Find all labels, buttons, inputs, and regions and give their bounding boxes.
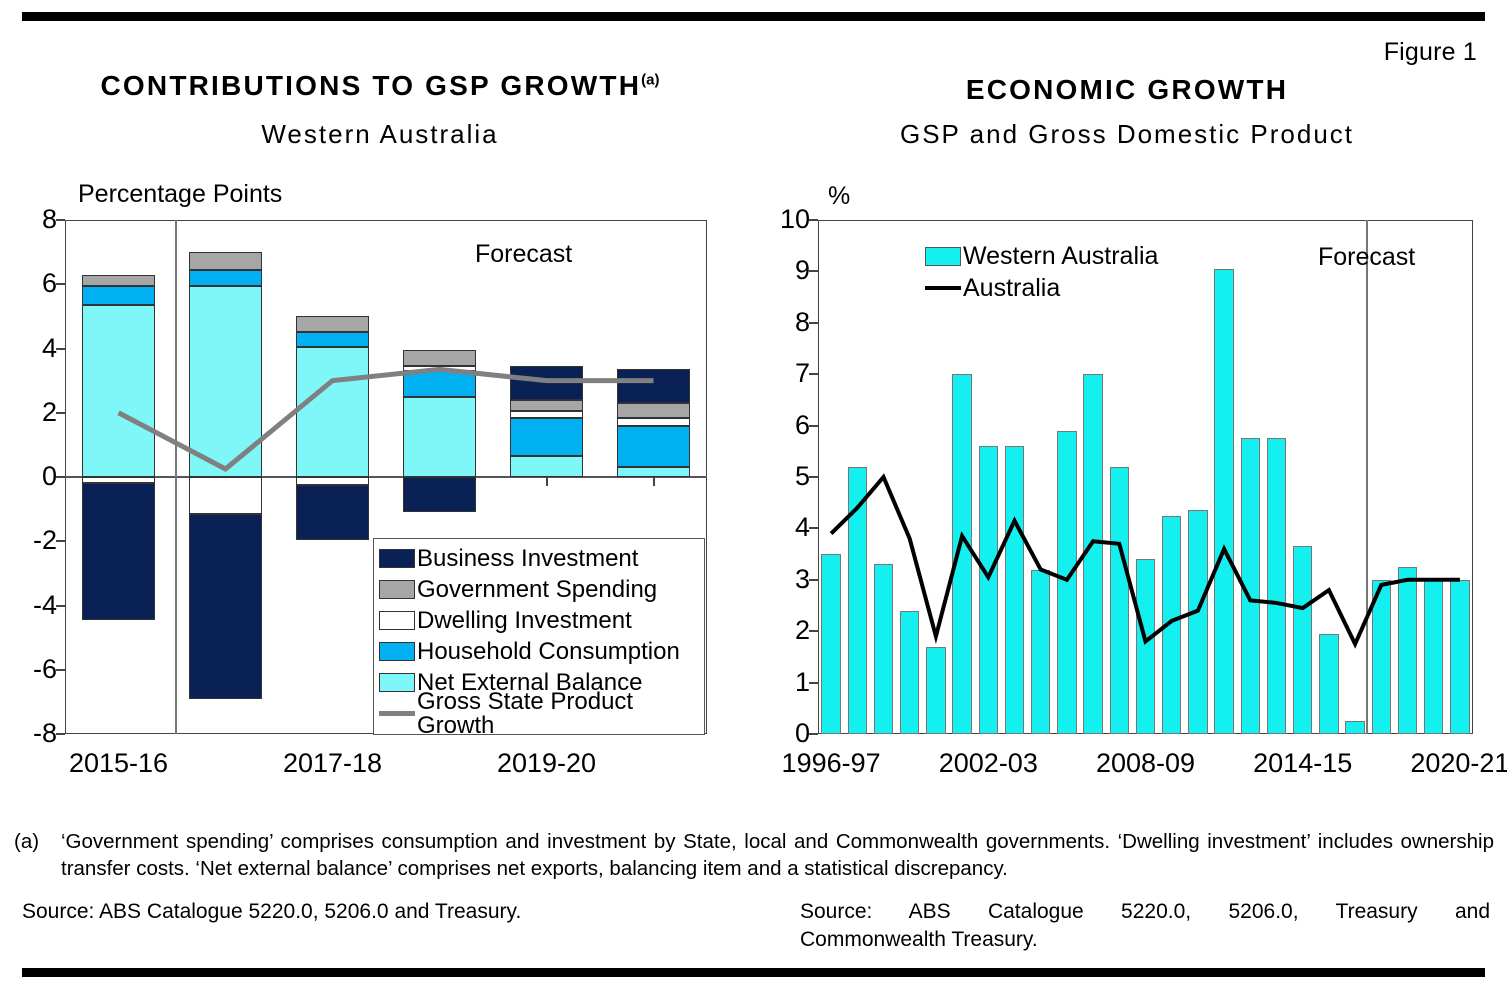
bar-segment-government-spending — [296, 316, 369, 332]
legend-item-label: Australia — [963, 276, 1060, 301]
legend-item-australia: Australia — [925, 272, 1158, 304]
bar-segment-business-investment — [403, 477, 476, 512]
right-y-tick-mark — [809, 270, 818, 272]
bar-segment-household-consumption — [189, 270, 262, 286]
bar-group-2017-18 — [296, 220, 369, 734]
bar-2004-05 — [1031, 570, 1050, 734]
legend-color-swatch — [925, 247, 961, 266]
right-y-tick-mark — [809, 322, 818, 324]
legend-line-swatch — [379, 711, 415, 716]
figure-label: Figure 1 — [1384, 38, 1477, 67]
legend-line-swatch — [925, 286, 961, 290]
legend-item-label: Western Australia — [963, 244, 1158, 269]
legend-color-swatch — [379, 549, 415, 568]
source-left: Source: ABS Catalogue 5220.0, 5206.0 and… — [22, 898, 752, 926]
right-y-tick-mark — [809, 476, 818, 478]
left-chart-title: CONTRIBUTIONS TO GSP GROWTH(a) — [0, 70, 760, 102]
right-y-tick-mark — [809, 579, 818, 581]
right-y-tick-mark — [809, 682, 818, 684]
bar-segment-net-external-balance — [189, 286, 262, 477]
bar-2017-18 — [1372, 580, 1391, 734]
right-y-tick-mark — [809, 373, 818, 375]
right-x-axis-label: 1996-97 — [741, 748, 921, 779]
bar-segment-household-consumption — [403, 371, 476, 397]
legend-item-label: Dwelling Investment — [417, 609, 632, 633]
left-y-tick-mark — [56, 283, 65, 285]
legend-item-government-spending: Government Spending — [379, 574, 699, 605]
right-y-tick-mark — [809, 425, 818, 427]
left-chart-title-text: CONTRIBUTIONS TO GSP GROWTH — [101, 70, 642, 101]
bar-2013-14 — [1267, 438, 1286, 734]
left-forecast-divider — [175, 220, 177, 734]
right-chart-subtitle: GSP and Gross Domestic Product — [747, 119, 1507, 150]
right-forecast-divider — [1366, 220, 1368, 734]
left-x-axis-label: 2019-20 — [457, 748, 637, 779]
left-y-tick-mark — [56, 733, 65, 735]
right-y-tick-label: 8 — [758, 309, 810, 336]
left-axis-unit-label: Percentage Points — [78, 180, 282, 209]
left-chart-title-superscript: (a) — [641, 72, 659, 89]
right-x-axis-label: 2020-21 — [1370, 748, 1507, 779]
left-y-tick-label: 6 — [5, 270, 57, 297]
footnote-text: ‘Government spending’ comprises consumpt… — [61, 828, 1494, 883]
legend-item-household-consumption: Household Consumption — [379, 636, 699, 667]
bar-segment-net-external-balance — [82, 305, 155, 477]
right-y-tick-label: 5 — [758, 463, 810, 490]
left-zero-line — [65, 476, 707, 478]
bar-segment-dwelling-investment — [296, 477, 369, 485]
right-y-tick-label: 0 — [758, 720, 810, 747]
bar-segment-government-spending — [82, 275, 155, 286]
bar-segment-business-investment — [82, 483, 155, 620]
bar-segment-dwelling-investment — [189, 477, 262, 514]
bar-2009-10 — [1162, 516, 1181, 734]
bar-segment-business-investment — [510, 366, 583, 400]
bar-segment-dwelling-investment — [510, 411, 583, 417]
bar-2015-16 — [1319, 634, 1338, 734]
legend-color-swatch — [379, 642, 415, 661]
right-forecast-label: Forecast — [1318, 243, 1415, 272]
bar-2002-03 — [979, 446, 998, 734]
bar-2005-06 — [1057, 431, 1076, 734]
bar-2016-17 — [1345, 721, 1364, 734]
right-x-axis-label: 2002-03 — [898, 748, 1078, 779]
right-y-tick-mark — [809, 527, 818, 529]
legend-color-swatch — [379, 611, 415, 630]
footnote-marker: (a) — [14, 828, 39, 855]
left-y-tick-label: 0 — [5, 463, 57, 490]
bottom-divider-rule — [22, 968, 1485, 977]
bar-segment-dwelling-investment — [617, 418, 690, 426]
legend-item-western-australia: Western Australia — [925, 240, 1158, 272]
legend-item-label: Gross State Product Growth — [417, 690, 699, 738]
right-y-tick-label: 1 — [758, 669, 810, 696]
legend-color-swatch — [379, 673, 415, 692]
left-y-tick-mark — [56, 348, 65, 350]
left-y-tick-mark — [56, 669, 65, 671]
bar-segment-business-investment — [296, 485, 369, 540]
bar-1999-00 — [900, 611, 919, 734]
right-y-tick-label: 7 — [758, 360, 810, 387]
bar-group-2016-17 — [189, 220, 262, 734]
right-x-axis-label: 2008-09 — [1056, 748, 1236, 779]
legend-item-label: Government Spending — [417, 578, 657, 602]
bar-2008-09 — [1136, 559, 1155, 734]
bar-1997-98 — [848, 467, 867, 734]
left-y-tick-label: -4 — [5, 592, 57, 619]
bar-segment-government-spending — [510, 400, 583, 411]
bar-2019-20 — [1424, 580, 1443, 734]
left-y-tick-mark — [56, 476, 65, 478]
right-y-tick-mark — [809, 630, 818, 632]
bar-2000-01 — [926, 647, 945, 734]
bar-segment-net-external-balance — [617, 467, 690, 477]
right-chart-title: ECONOMIC GROWTH — [747, 74, 1507, 106]
left-x-axis-label: 2015-16 — [29, 748, 209, 779]
bar-2001-02 — [952, 374, 971, 734]
bar-segment-business-investment — [189, 514, 262, 699]
legend-item-business-investment: Business Investment — [379, 543, 699, 574]
left-chart-subtitle: Western Australia — [0, 119, 760, 150]
left-y-tick-label: -6 — [5, 656, 57, 683]
right-x-axis-label: 2014-15 — [1213, 748, 1393, 779]
left-chart-legend: Business InvestmentGovernment SpendingDw… — [373, 538, 705, 735]
bar-2018-19 — [1398, 567, 1417, 734]
right-chart-legend: Western AustraliaAustralia — [925, 240, 1158, 304]
left-y-tick-label: 2 — [5, 399, 57, 426]
footnote: (a) ‘Government spending’ comprises cons… — [14, 828, 1494, 883]
bar-segment-household-consumption — [617, 426, 690, 468]
bar-segment-government-spending — [617, 403, 690, 417]
bar-segment-household-consumption — [510, 418, 583, 457]
right-y-tick-label: 2 — [758, 617, 810, 644]
right-y-tick-label: 3 — [758, 566, 810, 593]
right-y-tick-label: 9 — [758, 257, 810, 284]
bar-segment-net-external-balance — [403, 397, 476, 477]
top-divider-rule — [22, 12, 1485, 21]
bar-segment-government-spending — [403, 350, 476, 366]
left-y-tick-mark — [56, 219, 65, 221]
bar-2003-04 — [1005, 446, 1024, 734]
bar-2020-21 — [1450, 580, 1469, 734]
right-y-tick-label: 10 — [758, 206, 810, 233]
bar-segment-net-external-balance — [296, 347, 369, 477]
right-y-tick-mark — [809, 219, 818, 221]
bar-2007-08 — [1110, 467, 1129, 734]
bar-2012-13 — [1241, 438, 1260, 734]
bar-segment-household-consumption — [82, 286, 155, 305]
left-y-tick-label: 4 — [5, 335, 57, 362]
source-right: Source: ABS Catalogue 5220.0, 5206.0, Tr… — [800, 898, 1490, 955]
right-y-tick-label: 6 — [758, 412, 810, 439]
legend-item-label: Business Investment — [417, 547, 638, 571]
left-y-tick-label: -2 — [5, 527, 57, 554]
left-y-tick-label: -8 — [5, 720, 57, 747]
legend-item-label: Household Consumption — [417, 640, 680, 664]
legend-item-gross-state-product-growth: Gross State Product Growth — [379, 698, 699, 729]
bar-2014-15 — [1293, 546, 1312, 734]
bar-segment-net-external-balance — [510, 456, 583, 477]
bar-segment-dwelling-investment — [403, 366, 476, 371]
bar-group-2015-16 — [82, 220, 155, 734]
left-y-tick-mark — [56, 605, 65, 607]
source-right-line-2: Commonwealth Treasury. — [800, 926, 1490, 954]
bar-segment-household-consumption — [296, 332, 369, 346]
left-y-tick-mark — [56, 412, 65, 414]
left-forecast-label: Forecast — [475, 240, 572, 269]
bar-1998-99 — [874, 564, 893, 734]
left-x-axis-label: 2017-18 — [243, 748, 423, 779]
right-y-tick-mark — [809, 733, 818, 735]
bar-segment-government-spending — [189, 252, 262, 270]
left-y-tick-mark — [56, 540, 65, 542]
bar-1996-97 — [821, 554, 840, 734]
legend-item-dwelling-investment: Dwelling Investment — [379, 605, 699, 636]
right-y-tick-label: 4 — [758, 514, 810, 541]
bar-2006-07 — [1083, 374, 1102, 734]
left-y-tick-label: 8 — [5, 206, 57, 233]
bar-2011-12 — [1214, 269, 1233, 734]
bar-2010-11 — [1188, 510, 1207, 734]
right-axis-unit-label: % — [828, 182, 850, 211]
legend-color-swatch — [379, 580, 415, 599]
source-right-line-1: Source: ABS Catalogue 5220.0, 5206.0, Tr… — [800, 898, 1490, 926]
bar-segment-business-investment — [617, 369, 690, 403]
